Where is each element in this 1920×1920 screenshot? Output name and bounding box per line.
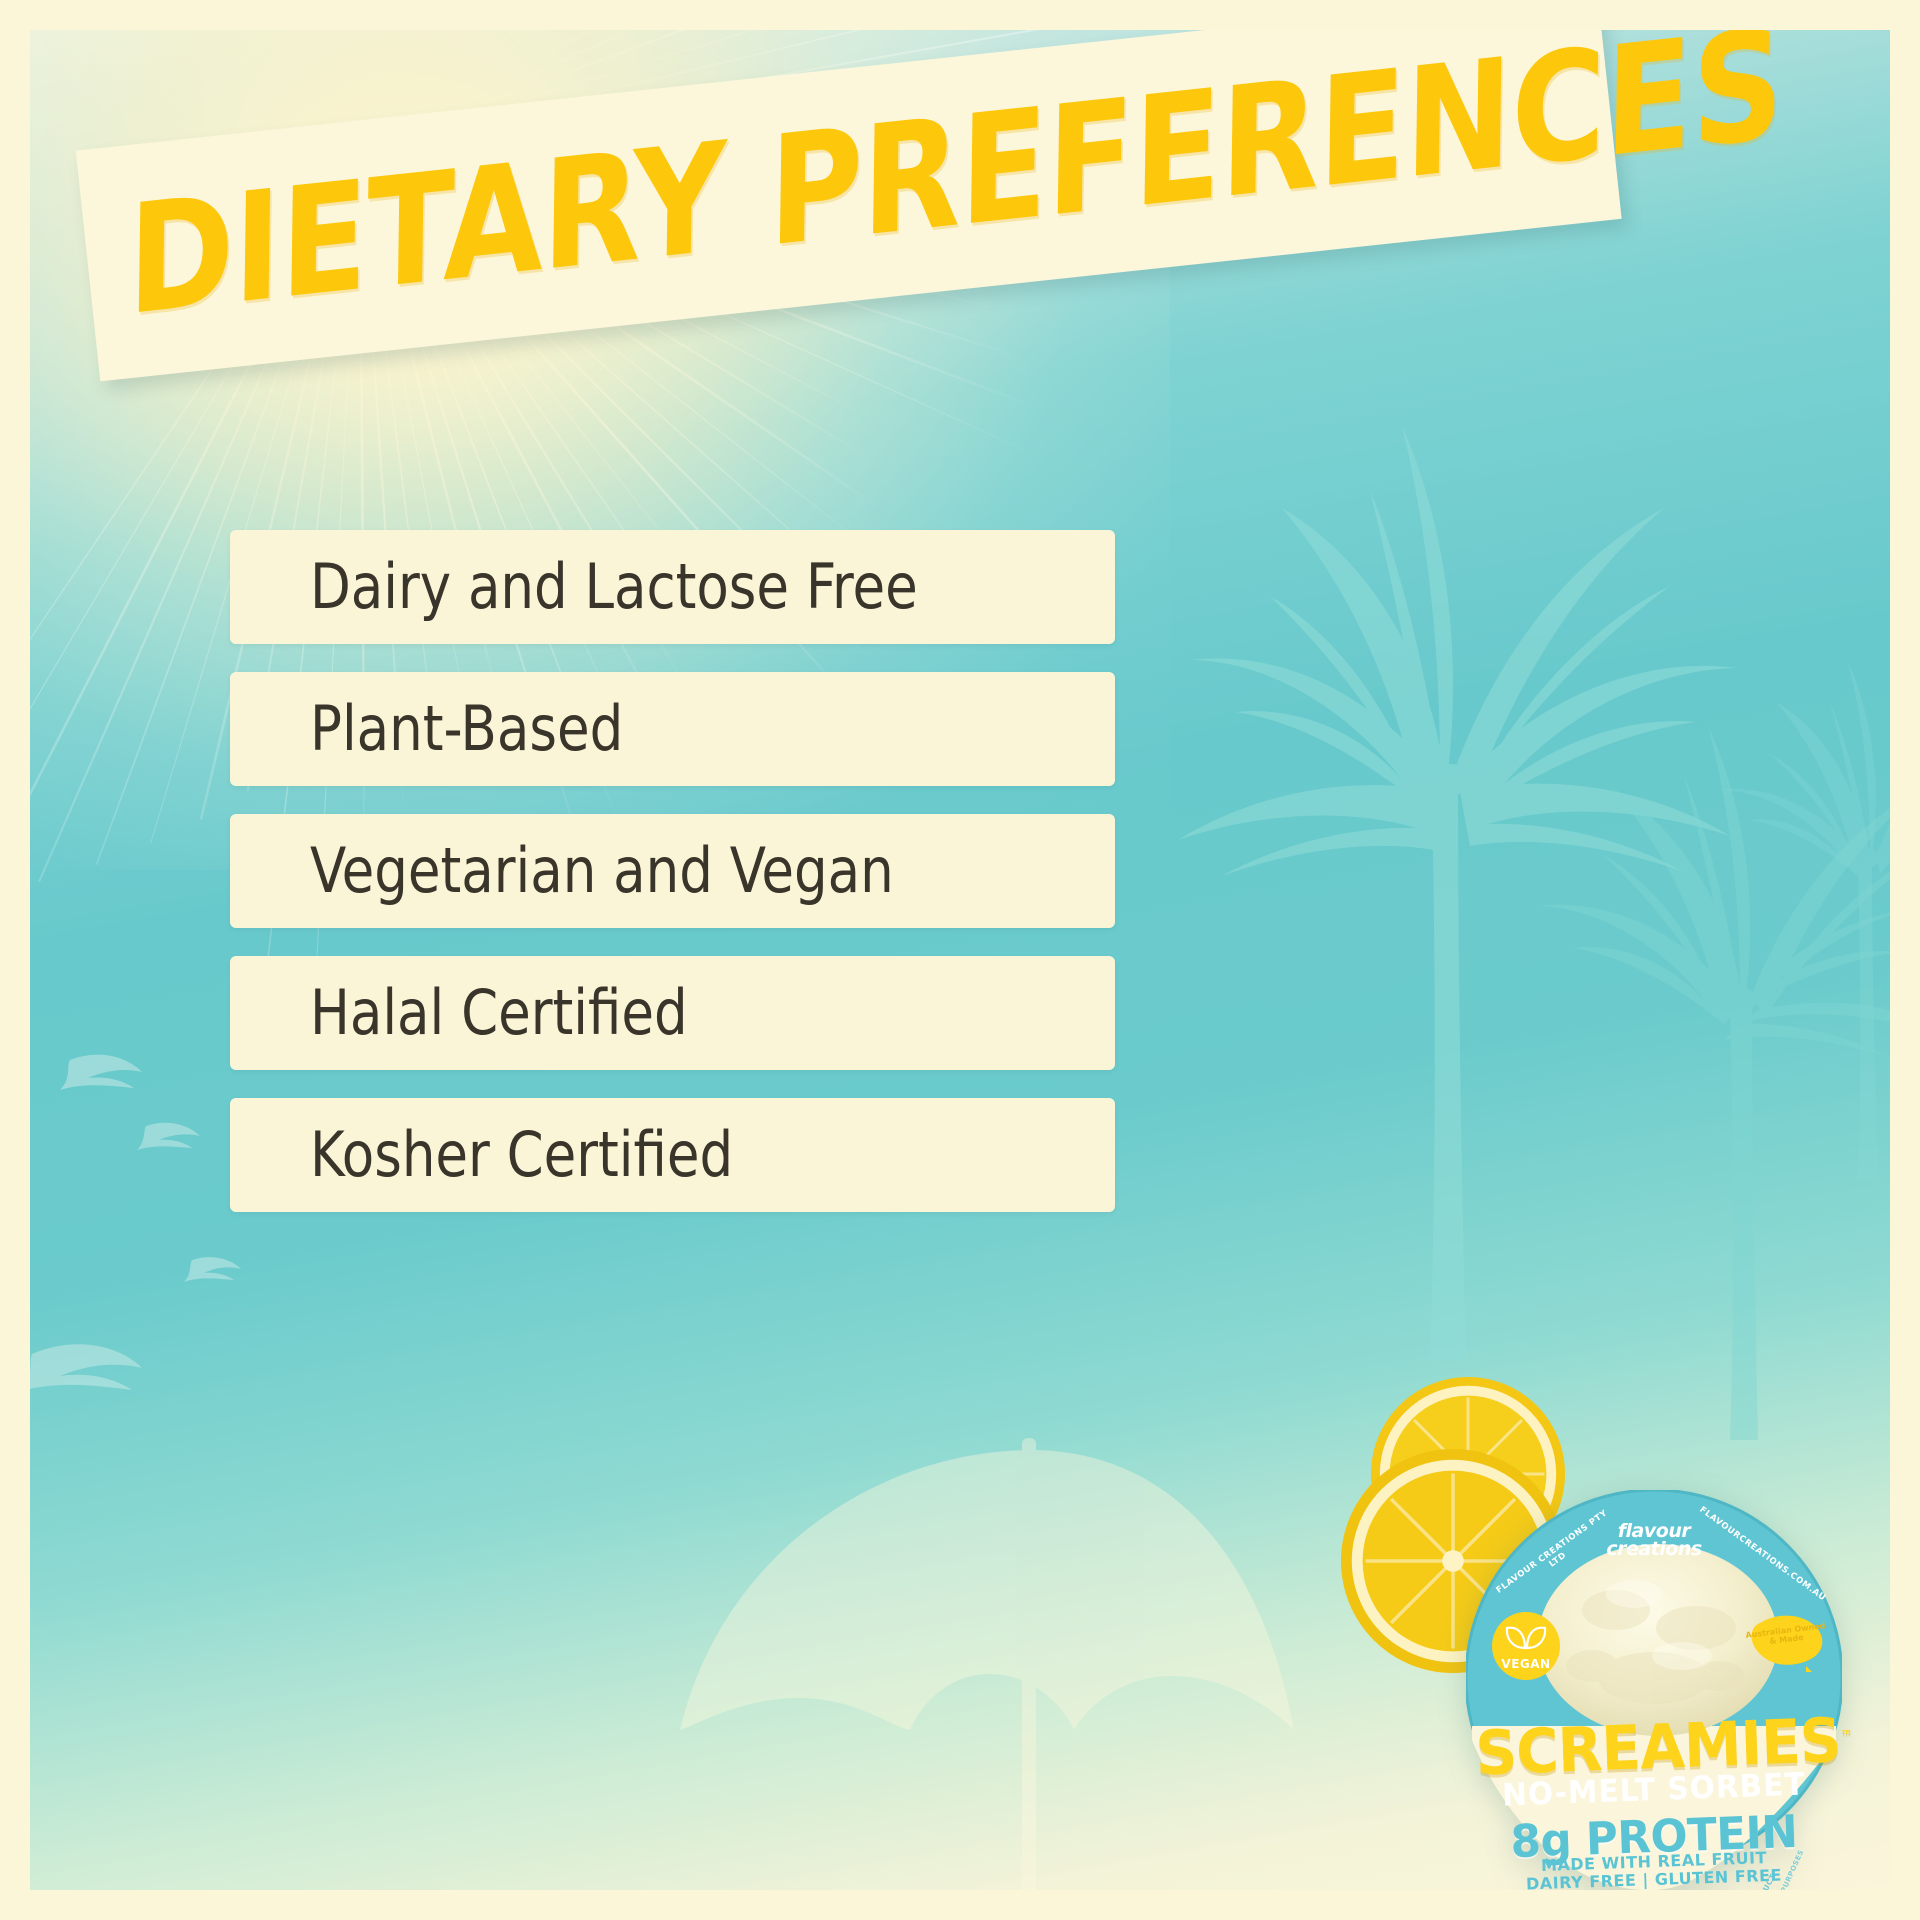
beach-umbrella-silhouette-icon (570, 1330, 1470, 1890)
dietary-preferences-list: Dairy and Lactose Free Plant-Based Veget… (230, 530, 1115, 1240)
title-banner: DIETARY PREFERENCES (76, 30, 1622, 381)
list-item: Plant-Based (230, 672, 1115, 786)
list-item-label: Plant-Based (310, 698, 623, 760)
list-item: Vegetarian and Vegan (230, 814, 1115, 928)
package-shape (1466, 1490, 1842, 1890)
list-item-label: Halal Certified (310, 982, 688, 1044)
list-item-label: Vegetarian and Vegan (310, 840, 894, 902)
page-title: DIETARY PREFERENCES (127, 30, 1784, 337)
list-item-label: Dairy and Lactose Free (310, 556, 918, 618)
product-package: flavour creations FLAVOUR CREATIONS PTY … (1466, 1490, 1842, 1890)
list-item: Halal Certified (230, 956, 1115, 1070)
poster-canvas: DIETARY PREFERENCES Dairy and Lactose Fr… (0, 0, 1920, 1920)
list-item: Kosher Certified (230, 1098, 1115, 1212)
palm-tree-silhouette-icon (1030, 360, 1890, 1540)
poster-background: DIETARY PREFERENCES Dairy and Lactose Fr… (30, 30, 1890, 1890)
list-item: Dairy and Lactose Free (230, 530, 1115, 644)
product-shot: flavour creations FLAVOUR CREATIONS PTY … (1360, 1370, 1890, 1890)
list-item-label: Kosher Certified (310, 1124, 733, 1186)
